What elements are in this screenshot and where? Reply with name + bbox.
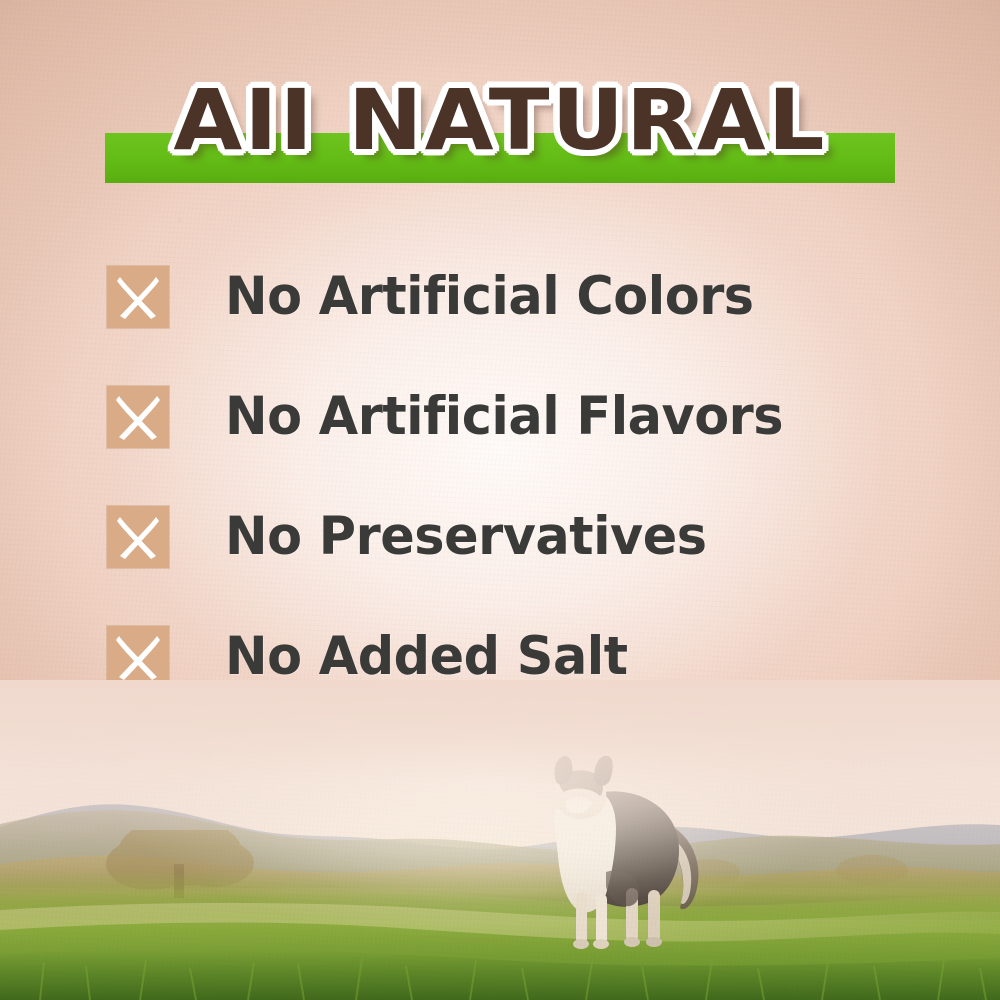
x-mark-icon bbox=[107, 266, 169, 328]
x-mark-icon bbox=[107, 386, 169, 448]
landscape-photo bbox=[0, 680, 1000, 1000]
dog-border-collie bbox=[500, 752, 730, 952]
landscape-photo-scene bbox=[0, 680, 1000, 1000]
headline-block: AII NATURAL bbox=[0, 72, 1000, 192]
headline-text: AII NATURAL bbox=[0, 72, 1000, 168]
x-mark-icon bbox=[107, 626, 169, 688]
x-mark-icon bbox=[107, 506, 169, 568]
list-item-label: No Preservatives bbox=[225, 508, 707, 566]
list-item: No Artificial Flavors bbox=[107, 386, 967, 448]
claims-list: No Artificial Colors No Artificial Flavo… bbox=[107, 266, 967, 746]
list-item-label: No Added Salt bbox=[225, 628, 628, 686]
list-item: No Added Salt bbox=[107, 626, 967, 688]
list-item: No Preservatives bbox=[107, 506, 967, 568]
list-item-label: No Artificial Colors bbox=[225, 268, 754, 326]
list-item: No Artificial Colors bbox=[107, 266, 967, 328]
list-item-label: No Artificial Flavors bbox=[225, 388, 783, 446]
all-natural-poster: AII NATURAL No Artificial Colors No Arti… bbox=[0, 0, 1000, 1000]
